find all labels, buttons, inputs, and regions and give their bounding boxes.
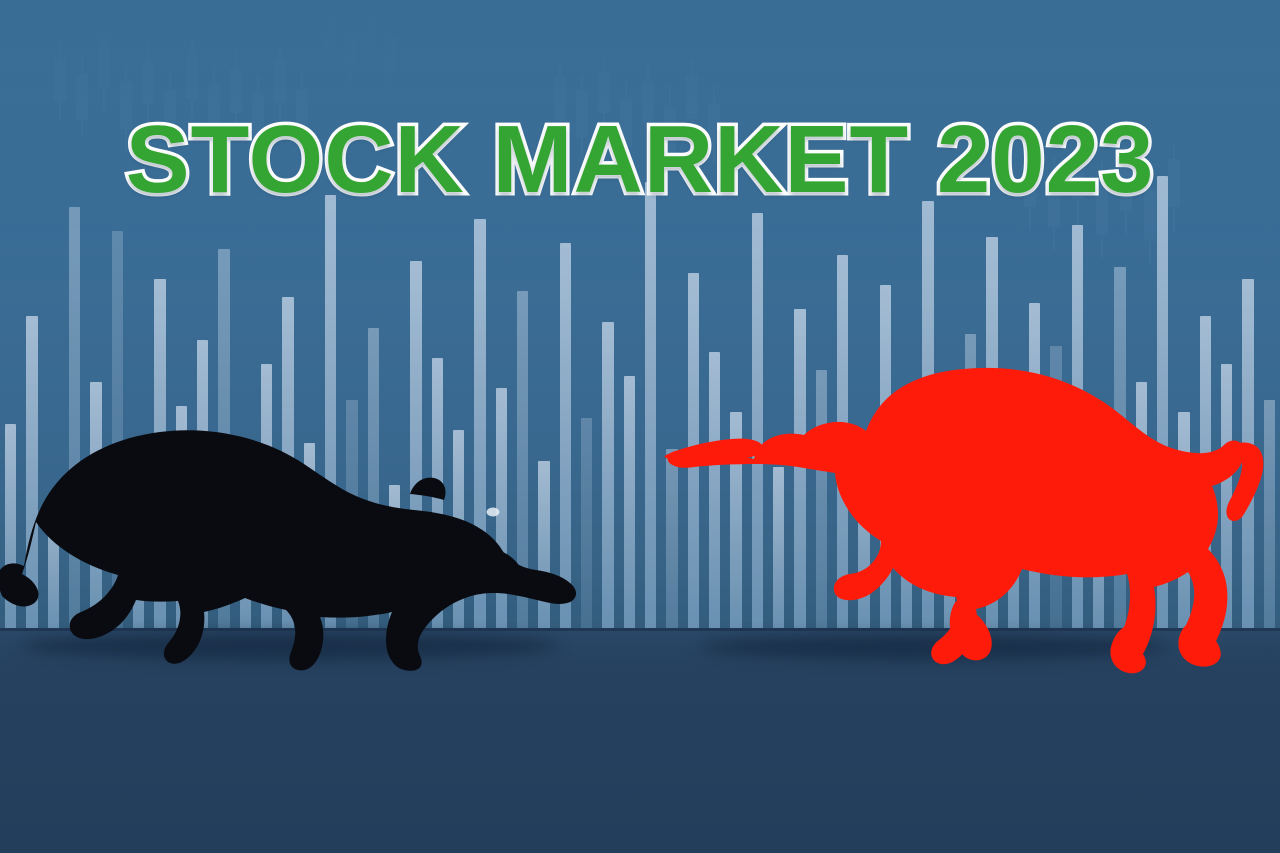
chart-bar [645,182,656,630]
bear-silhouette [0,400,590,675]
chart-bar [624,376,635,630]
page-title: STOCK MARKET 2023 [0,112,1280,208]
stock-market-poster: STOCK MARKET 2023 [0,0,1280,853]
bull-silhouette [660,355,1270,675]
bear-eye-highlight [487,508,500,517]
bull-horn [665,439,763,461]
chart-bar [602,322,613,630]
